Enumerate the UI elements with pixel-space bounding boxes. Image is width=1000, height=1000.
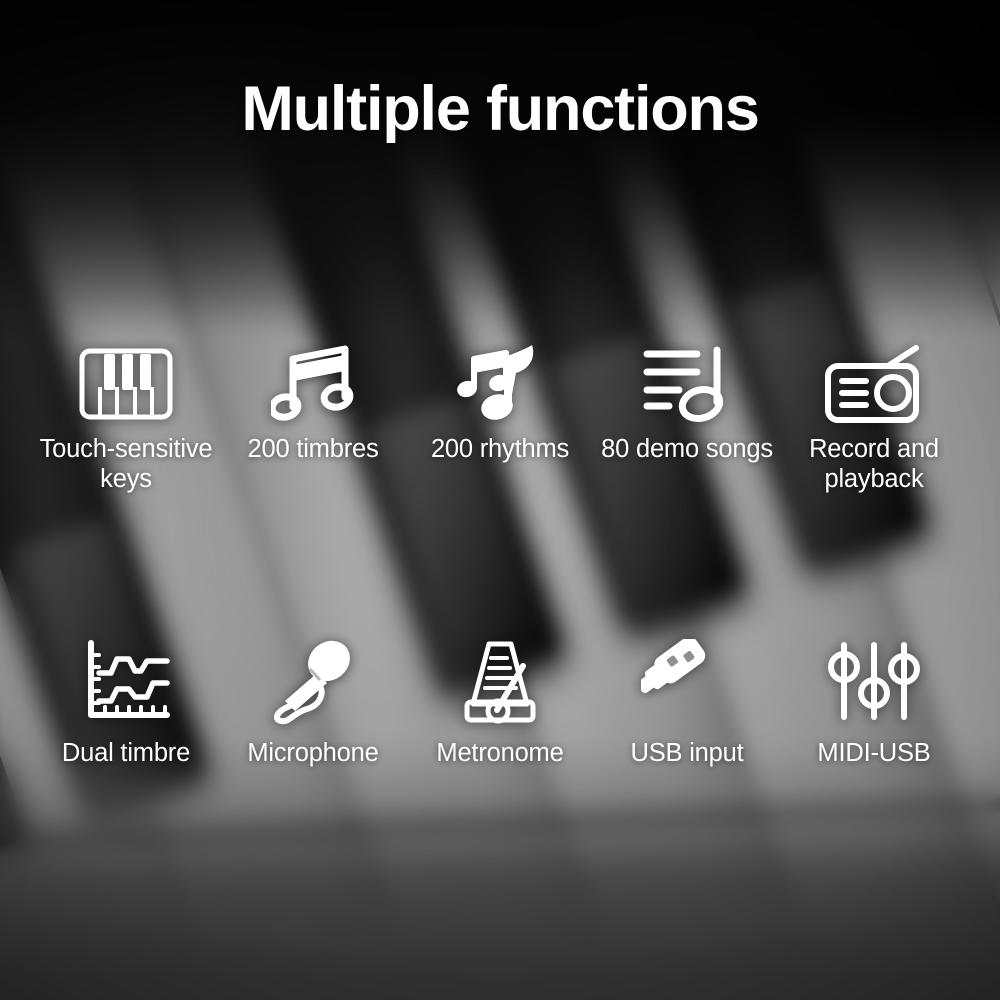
feature-label: 200 timbres bbox=[247, 434, 378, 464]
waveform-chart-icon bbox=[79, 636, 173, 728]
feature-item-80-demo-songs: 80 demo songs bbox=[594, 342, 781, 464]
feature-item-record-and-playback: Record and playback bbox=[781, 342, 968, 494]
product-feature-banner: Multiple functions bbox=[0, 0, 1000, 1000]
beamed-eighth-notes-icon bbox=[271, 342, 355, 426]
sliders-icon bbox=[828, 636, 920, 728]
feature-item-metronome: Metronome bbox=[407, 636, 594, 768]
feature-label: USB input bbox=[630, 738, 743, 768]
piano-keyboard-icon bbox=[78, 342, 174, 426]
page-title: Multiple functions bbox=[0, 78, 1000, 141]
radio-icon bbox=[822, 342, 926, 426]
feature-label: Record and playback bbox=[784, 434, 964, 494]
feature-item-touch-sensitive-keys: Touch-sensitive keys bbox=[33, 342, 220, 494]
feature-item-usb-input: USB input bbox=[594, 636, 781, 768]
feature-item-midi-usb: MIDI-USB bbox=[781, 636, 968, 768]
microphone-icon bbox=[263, 636, 363, 728]
usb-plug-icon bbox=[641, 636, 733, 728]
feature-row-primary: Touch-sensitive keys 200 timbres bbox=[0, 342, 1000, 494]
feature-label: 200 rhythms bbox=[431, 434, 569, 464]
feature-label: Touch-sensitive keys bbox=[36, 434, 216, 494]
feature-label: MIDI-USB bbox=[817, 738, 930, 768]
playlist-note-icon bbox=[641, 342, 733, 426]
metronome-icon bbox=[457, 636, 543, 728]
music-notes-icon bbox=[454, 342, 546, 426]
feature-label: 80 demo songs bbox=[601, 434, 773, 464]
feature-item-200-timbres: 200 timbres bbox=[220, 342, 407, 464]
feature-label: Metronome bbox=[436, 738, 563, 768]
feature-row-secondary: Dual timbre Microphone bbox=[0, 636, 1000, 768]
feature-item-200-rhythms: 200 rhythms bbox=[407, 342, 594, 464]
feature-item-dual-timbre: Dual timbre bbox=[33, 636, 220, 768]
feature-label: Dual timbre bbox=[62, 738, 190, 768]
feature-label: Microphone bbox=[247, 738, 378, 768]
feature-item-microphone: Microphone bbox=[220, 636, 407, 768]
